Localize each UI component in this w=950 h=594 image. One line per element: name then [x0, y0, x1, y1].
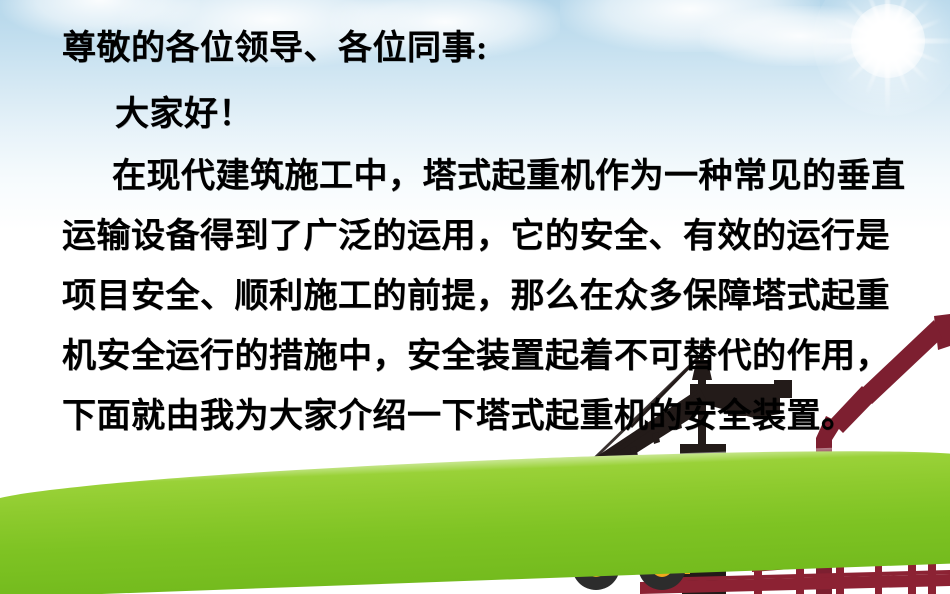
paragraph-line-2: 运输设备得到了广泛的运用，它的安全、有效的运行是 [62, 220, 890, 254]
paragraph-line-4: 机安全运行的措施中，安全装置起着不可替代的作用， [62, 340, 890, 374]
paragraph-line-1: 在现代建筑施工中，塔式起重机作为一种常见的垂直 [112, 160, 906, 194]
paragraph-line-3: 项目安全、顺利施工的前提，那么在众多保障塔式起重 [62, 280, 890, 314]
greeting-line: 尊敬的各位领导、各位同事: [62, 32, 488, 66]
hello-line: 大家好！ [115, 98, 253, 132]
presentation-slide: 尊敬的各位领导、各位同事: 大家好！ 在现代建筑施工中，塔式起重机作为一种常见的… [0, 0, 950, 594]
slide-text-block: 尊敬的各位领导、各位同事: 大家好！ 在现代建筑施工中，塔式起重机作为一种常见的… [0, 0, 950, 470]
paragraph-line-5: 下面就由我为大家介绍一下塔式起重机的安全装置。 [62, 400, 856, 434]
